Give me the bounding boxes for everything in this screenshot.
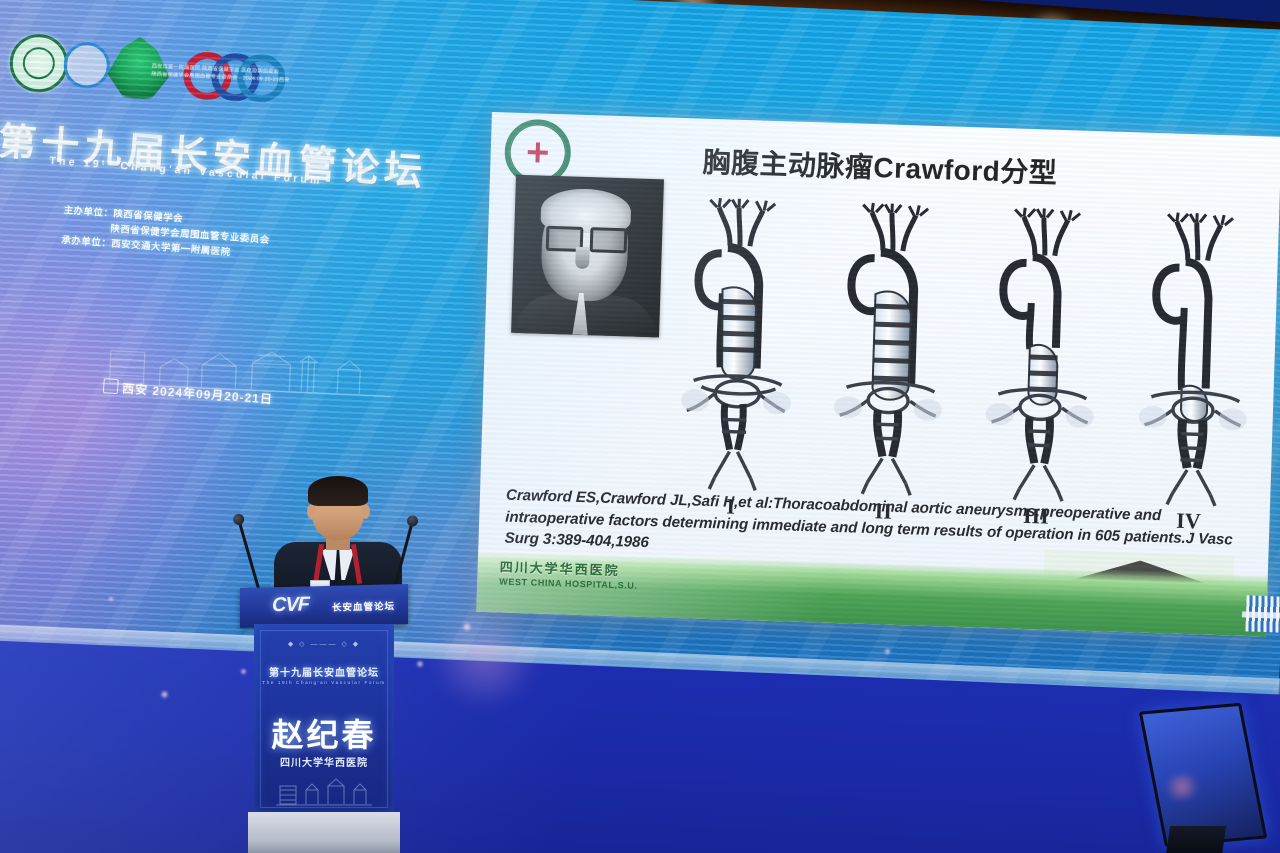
podium-display-panel: ◆ ◇ ——— ◇ ◆ 第十九届长安血管论坛 The 19th Chang'an… [254, 624, 394, 814]
aorta-diagram-type-4: IV [1128, 210, 1259, 514]
aorta-diagram-type-1: I [670, 196, 801, 500]
forum-branding-panel: 西安市第一附属医院 陕西省保健学会 医疗协调组委会 陕西省保健学会周围血管专业委… [0, 0, 440, 461]
monitor-stand [1166, 826, 1226, 853]
aorta-diagram-type-2: II [823, 201, 954, 505]
podium-brand-text: 长安血管论坛 [332, 598, 395, 614]
wall-led-strip [1242, 611, 1280, 618]
forum-organizers: 主办单位：陕西省保健学会 陕西省保健学会周围血管专业委员会 承办单位：西安交通大… [61, 202, 393, 272]
speaker-hair [308, 476, 368, 506]
location-pin-icon [103, 378, 119, 394]
slide-title: 胸腹主动脉瘤Crawford分型 [702, 141, 1058, 192]
conference-stage-photo: 西安市第一附属医院 陕西省保健学会 医疗协调组委会 陕西省保健学会周围血管专业委… [0, 0, 1280, 853]
podium-header-bar: CVF 长安血管论坛 [240, 584, 408, 628]
speaker-ear [361, 504, 370, 519]
crawford-classification-diagrams: I [670, 196, 1259, 514]
confidence-monitor [1118, 700, 1268, 853]
secondary-association-logo-icon [63, 41, 111, 89]
podium-forum-name-en: The 19th Chang'an Vascular Forum [254, 680, 394, 685]
speaker-podium: CVF 长安血管论坛 ◆ ◇ ——— ◇ ◆ 第十九届长安血管论坛 The 19… [240, 586, 408, 853]
podium-skyline-graphic [276, 776, 372, 806]
lens-flare [430, 600, 540, 710]
podium-decoration: ◆ ◇ ——— ◇ ◆ [254, 640, 394, 648]
podium-speaker-affiliation: 四川大学华西医院 [254, 754, 394, 769]
crawford-portrait-photo [511, 175, 664, 338]
cvf-logo-icon: CVF [272, 593, 309, 617]
health-association-logo-icon [9, 33, 70, 94]
speaker-ear [307, 504, 316, 519]
aorta-diagram-type-3: III [975, 206, 1106, 510]
podium-forum-name: 第十九届长安血管论坛 [254, 664, 394, 679]
podium-speaker-name: 赵纪春 [254, 710, 394, 756]
presentation-slide: 胸腹主动脉瘤Crawford分型 [476, 112, 1280, 637]
podium-base [248, 812, 400, 853]
